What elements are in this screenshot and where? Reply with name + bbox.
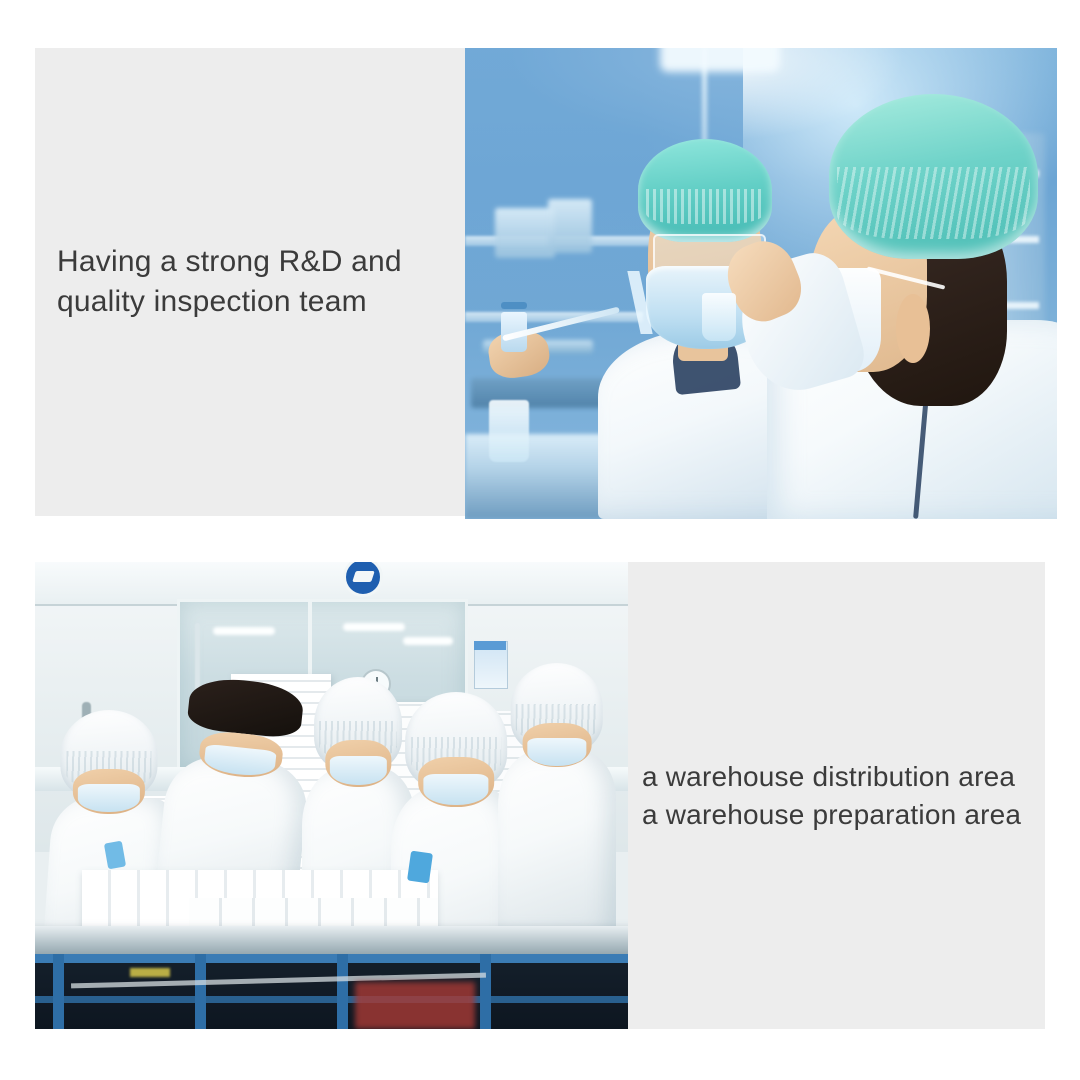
lab-photo bbox=[465, 48, 1057, 519]
face-mask-icon bbox=[527, 738, 586, 766]
red-bin bbox=[355, 982, 475, 1029]
notice-board-header bbox=[474, 641, 506, 650]
steel-table-top bbox=[35, 926, 628, 954]
table-beam bbox=[35, 954, 628, 963]
yellow-marking bbox=[130, 968, 170, 977]
table-underside bbox=[35, 954, 628, 1029]
bottom-section: a warehouse distribution area a warehous… bbox=[35, 562, 1045, 1029]
table-leg bbox=[53, 954, 64, 1029]
warehouse-worker bbox=[498, 749, 617, 936]
technician-ear bbox=[896, 294, 930, 363]
sample-flask-icon bbox=[702, 293, 736, 341]
lab-scene bbox=[465, 48, 1057, 519]
ceiling-light-icon bbox=[213, 627, 275, 635]
face-mask-icon bbox=[78, 784, 140, 812]
top-caption-text: Having a strong R&D and quality inspecti… bbox=[35, 242, 402, 322]
lab-technician-profile bbox=[761, 86, 1057, 519]
ceiling-light-icon bbox=[343, 623, 405, 631]
hairnet-cap-icon bbox=[829, 94, 1038, 259]
face-mask-icon bbox=[423, 774, 488, 805]
page-root: Having a strong R&D and quality inspecti… bbox=[0, 0, 1080, 1080]
lab-instrument bbox=[495, 208, 555, 258]
blue-package-item bbox=[407, 850, 433, 883]
ceiling-light-icon bbox=[660, 48, 780, 72]
warehouse-ceiling bbox=[35, 562, 628, 604]
top-caption-panel: Having a strong R&D and quality inspecti… bbox=[35, 48, 467, 516]
warehouse-photo bbox=[35, 562, 628, 1029]
warehouse-scene bbox=[35, 562, 628, 1029]
vial-cap bbox=[501, 302, 527, 309]
hairnet-cap-icon bbox=[638, 139, 772, 242]
ceiling-light-icon bbox=[403, 637, 453, 645]
top-section: Having a strong R&D and quality inspecti… bbox=[35, 48, 1057, 518]
white-coat bbox=[498, 749, 617, 936]
table-leg bbox=[195, 954, 206, 1029]
table-beam bbox=[35, 996, 628, 1003]
beaker-icon bbox=[489, 400, 529, 462]
table-leg bbox=[337, 954, 348, 1029]
bottom-caption-text: a warehouse distribution area a warehous… bbox=[628, 758, 1021, 832]
table-leg bbox=[480, 954, 491, 1029]
bottom-caption-panel: a warehouse distribution area a warehous… bbox=[628, 562, 1045, 1029]
